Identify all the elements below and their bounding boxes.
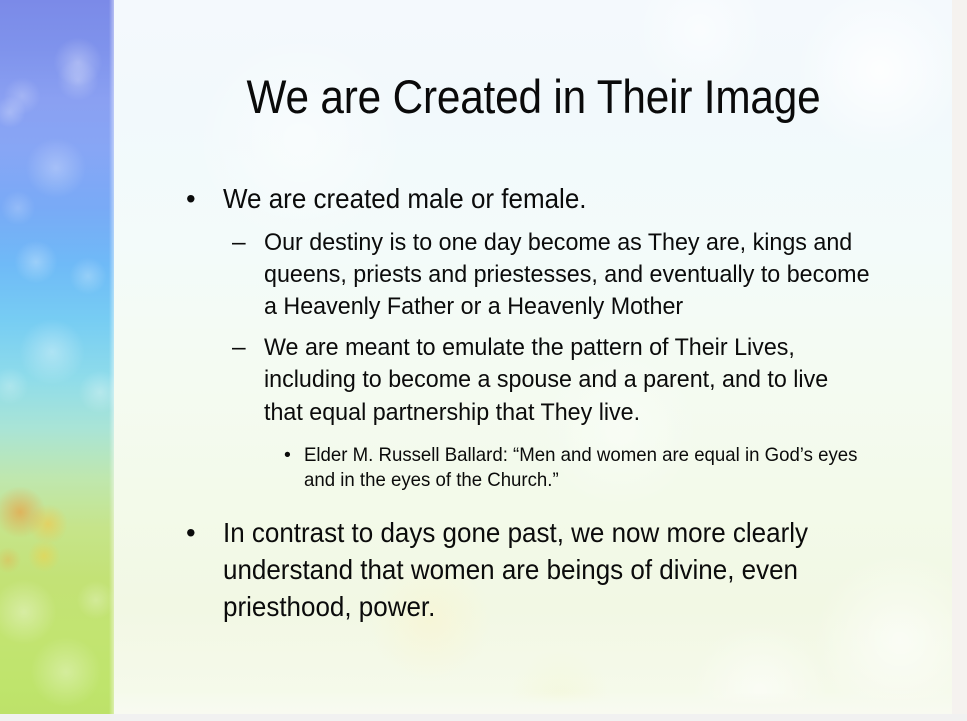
slide-content-area: We are Created in Their Image • We are c…	[114, 0, 953, 714]
slide-canvas: We are Created in Their Image • We are c…	[0, 0, 967, 721]
bullet-quote-text: Elder M. Russell Ballard: “Men and women…	[304, 443, 877, 494]
bullet-level3-item: • Elder M. Russell Ballard: “Men and wom…	[176, 443, 946, 494]
canvas-right-margin	[952, 0, 967, 721]
bullet-text: We are created male or female.	[223, 181, 906, 218]
canvas-bottom-margin	[0, 714, 967, 721]
bullet-level1-item: • We are created male or female.	[176, 181, 946, 218]
slide-decorative-side-band	[0, 0, 114, 714]
bullet-level2-item: – Our destiny is to one day become as Th…	[176, 227, 946, 324]
round-bullet-icon: •	[284, 443, 291, 468]
round-bullet-icon: •	[186, 181, 196, 218]
side-band-bokeh-decoration	[0, 0, 114, 714]
presentation-slide: We are Created in Their Image • We are c…	[0, 0, 953, 714]
en-dash-bullet-icon: –	[232, 332, 246, 364]
round-bullet-icon: •	[186, 515, 196, 552]
en-dash-bullet-icon: –	[232, 227, 246, 259]
bullet-text: In contrast to days gone past, we now mo…	[223, 515, 906, 625]
slide-title: We are Created in Their Image	[156, 72, 911, 121]
slide-body-bullet-list: • We are created male or female. – Our d…	[176, 181, 946, 631]
bullet-level2-item: – We are meant to emulate the pattern of…	[176, 332, 946, 429]
bullet-level1-item: • In contrast to days gone past, we now …	[176, 515, 946, 625]
bullet-text: Our destiny is to one day become as They…	[264, 227, 872, 324]
bullet-text: We are meant to emulate the pattern of T…	[264, 332, 872, 429]
